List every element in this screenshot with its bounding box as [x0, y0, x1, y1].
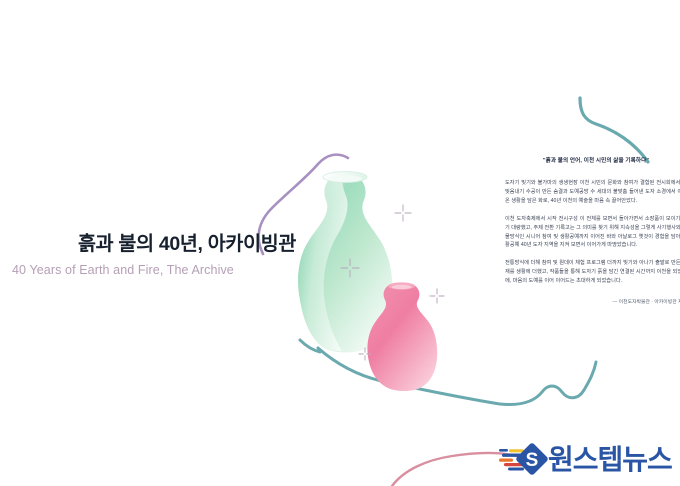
logo-wordmark: 원스텝뉴스 — [548, 446, 672, 474]
vase-pink-rim — [388, 282, 415, 289]
article-attribution: — 이천도자박물관 · 아카이빙관 제공 — [505, 298, 680, 305]
vase-green-rim — [323, 172, 367, 183]
logo-diamond-icon: S — [515, 443, 549, 476]
article-paragraph: 전통방식에 더해 참여 및 원데이 체험 프로그램 더까지 빚기와 아나기 출발… — [505, 259, 680, 286]
logo-bar-blue-3 — [508, 468, 524, 471]
ribbon-teal-hook — [300, 340, 320, 352]
article-paragraph: 이천 도자축제에서 시작 전시구성 이 전체를 보면서 돌아가면서 소장품이 모… — [505, 215, 680, 251]
ribbon-teal-wave — [318, 348, 596, 405]
vase-green — [298, 172, 392, 353]
sparkle-icon-2 — [341, 259, 359, 277]
logo-mark-icon: S — [498, 443, 550, 477]
title-block: 흙과 불의 40년, 아카이빙관 40 Years of Earth and F… — [10, 232, 296, 279]
sparkle-icon-3 — [430, 289, 444, 303]
article-headline: "흙과 불의 언어, 이천 시민의 삶을 기록하다" — [505, 158, 680, 166]
sparkle-icon-1 — [395, 205, 411, 221]
logo-bar-blue-1 — [499, 449, 508, 452]
page-subtitle: 40 Years of Earth and Fire, The Archive — [10, 262, 296, 278]
vase-pink — [367, 282, 437, 391]
poster-canvas: 흙과 불의 40년, 아카이빙관 40 Years of Earth and F… — [0, 0, 680, 486]
onestep-news-logo[interactable]: S 원스텝뉴스 — [498, 440, 672, 480]
sparkle-icon-4 — [359, 348, 371, 360]
svg-text:S: S — [526, 450, 539, 471]
article-panel: "흙과 불의 언어, 이천 시민의 삶을 기록하다" 도자기 빚기와 불가마의 … — [505, 158, 680, 305]
sparkle-group — [341, 205, 444, 360]
ribbon-teal-top-right — [580, 98, 648, 162]
logo-bar-yellow — [509, 449, 524, 452]
page-title: 흙과 불의 40년, 아카이빙관 — [10, 232, 296, 256]
logo-bar-orange — [499, 459, 513, 462]
article-paragraph: 도자기 빚기와 불가마의 생생현장 이천 시민의 문화와 참여가 결합된 전시회… — [505, 179, 680, 206]
